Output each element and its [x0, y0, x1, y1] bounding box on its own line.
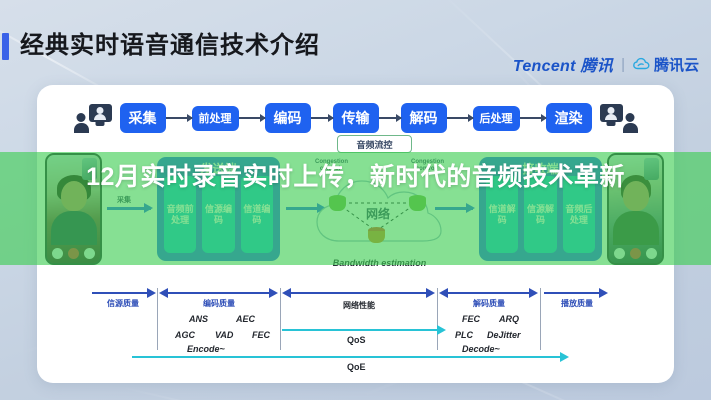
- network-node-icon: [329, 195, 346, 213]
- label-qoe: QoE: [347, 362, 366, 372]
- quality-axes: 信源质量 编码质量 网络性能 解码质量 播放质量 ANS AEC AGC VAD…: [37, 288, 674, 383]
- speaker-button-icon[interactable]: [84, 248, 95, 259]
- flow-arrow-from-network: [435, 207, 473, 210]
- pipeline-step-transmit[interactable]: 传输: [333, 103, 379, 133]
- pipeline-arrow: [311, 117, 333, 119]
- pipeline-step-encode[interactable]: 编码: [265, 103, 311, 133]
- hangup-button-icon[interactable]: [630, 248, 641, 259]
- term-agc: AGC: [175, 330, 195, 340]
- label-qos: QoS: [347, 335, 366, 345]
- term-ans: ANS: [189, 314, 208, 324]
- axis-tick: [437, 288, 438, 350]
- content-card: 采集 前处理 编码 传输 解码 后处理 渲染: [37, 85, 674, 383]
- pipeline-step-decode[interactable]: 解码: [401, 103, 447, 133]
- axis-decode-quality: [441, 292, 536, 294]
- page-title: 经典实时语音通信技术介绍: [20, 30, 320, 62]
- axis-network-performance: [284, 292, 433, 294]
- term-vad: VAD: [215, 330, 233, 340]
- mute-button-icon[interactable]: [614, 248, 625, 259]
- slide-canvas: 经典实时语音通信技术介绍 Tencent 腾讯 | 腾讯云 采集 前: [0, 0, 711, 400]
- term-encode-title: Encode~: [187, 344, 225, 354]
- label-playback-quality: 播放质量: [537, 298, 617, 309]
- term-plc: PLC: [455, 330, 473, 340]
- axis-encode-quality: [161, 292, 276, 294]
- person-monitor-icon: [74, 103, 114, 133]
- axis-qos: [282, 329, 444, 331]
- label-encode-quality: 编码质量: [167, 298, 271, 309]
- flow-arrow-capture: [107, 207, 151, 210]
- tencent-wordmark: Tencent 腾讯: [513, 52, 613, 76]
- person-monitor-icon: [598, 103, 638, 133]
- term-arq: ARQ: [499, 314, 519, 324]
- background-streak: [120, 386, 354, 400]
- term-fec-encode: FEC: [252, 330, 270, 340]
- capture-flow-label: 采集: [117, 195, 131, 205]
- pipeline-step-postprocess[interactable]: 后处理: [473, 106, 520, 131]
- cloud-icon: [633, 57, 651, 71]
- slide-header: 经典实时语音通信技术介绍 Tencent 腾讯 | 腾讯云: [0, 30, 711, 64]
- pipeline-arrow: [447, 117, 473, 119]
- pipeline-arrow: [520, 117, 546, 119]
- axis-qoe: [132, 356, 567, 358]
- mute-button-icon[interactable]: [52, 248, 63, 259]
- label-network-performance: 网络性能: [287, 300, 431, 311]
- label-source-quality: 信源质量: [77, 298, 169, 309]
- term-decode-title: Decode~: [462, 344, 500, 354]
- network-node-active-icon: [368, 227, 385, 245]
- tencent-cloud-label: 腾讯云: [654, 54, 699, 75]
- pipeline-step-capture[interactable]: 采集: [120, 103, 166, 133]
- term-fec-decode: FEC: [462, 314, 480, 324]
- axis-tick: [280, 288, 281, 350]
- axis-playback-quality: [544, 292, 606, 294]
- network-node-icon: [409, 195, 426, 213]
- processing-pipeline: 采集 前处理 编码 传输 解码 后处理 渲染: [37, 97, 674, 139]
- pipeline-step-preprocess[interactable]: 前处理: [192, 106, 239, 131]
- brand-divider: |: [621, 56, 625, 73]
- term-dejitter: DeJitter: [487, 330, 521, 340]
- term-aec: AEC: [236, 314, 255, 324]
- axis-source-quality: [92, 292, 154, 294]
- pipeline-arrow: [239, 117, 265, 119]
- hangup-button-icon[interactable]: [68, 248, 79, 259]
- speaker-button-icon[interactable]: [646, 248, 657, 259]
- pipeline-arrow: [166, 117, 192, 119]
- label-decode-quality: 解码质量: [441, 298, 537, 309]
- title-accent-bar: [2, 33, 9, 60]
- call-controls: [47, 248, 100, 259]
- pipeline-step-render[interactable]: 渲染: [546, 103, 592, 133]
- overlay-headline: 12月实时录音实时上传，新时代的音频技术革新: [40, 160, 671, 194]
- bandwidth-estimation-label: Bandwidth estimation: [292, 258, 467, 268]
- pipeline-arrow: [379, 117, 401, 119]
- brand-lockup: Tencent 腾讯 | 腾讯云: [513, 52, 699, 76]
- audio-flow-control-chip: 音频流控: [337, 135, 412, 153]
- call-controls: [609, 248, 662, 259]
- tencent-cloud-lockup: 腾讯云: [633, 54, 699, 75]
